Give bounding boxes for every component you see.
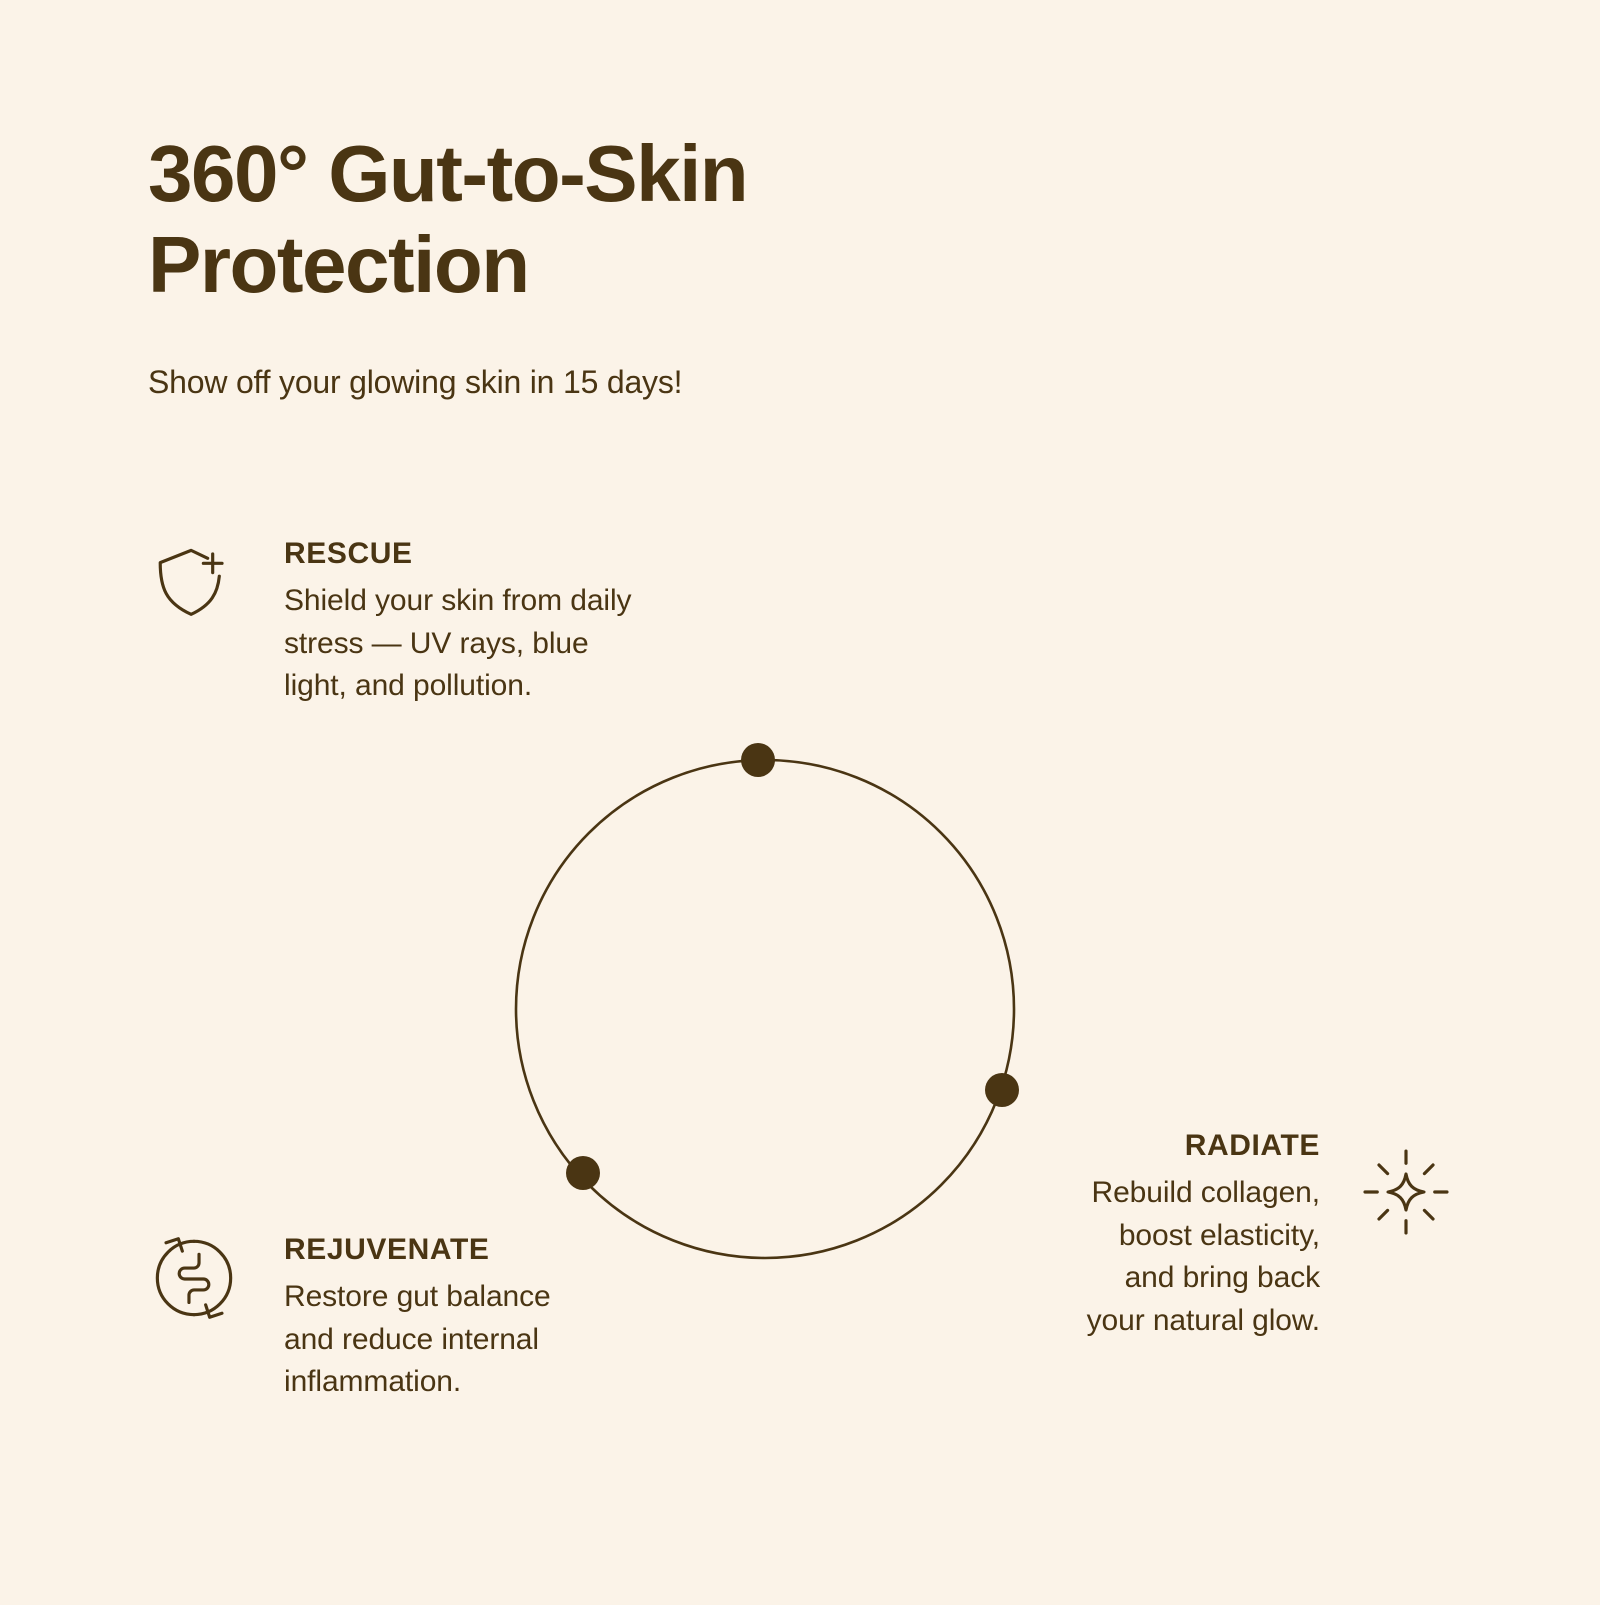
ring-node-rejuvenate[interactable] bbox=[566, 1156, 600, 1190]
feature-rescue-description: Shield your skin from daily stress — UV … bbox=[284, 572, 631, 708]
feature-radiate: RADIATE Rebuild collagen, boost elastici… bbox=[940, 1128, 1452, 1342]
feature-rescue-body: RESCUE Shield your skin from daily stres… bbox=[240, 536, 631, 708]
sparkle-rays-icon bbox=[1360, 1146, 1452, 1238]
feature-radiate-body: RADIATE Rebuild collagen, boost elastici… bbox=[1087, 1128, 1360, 1342]
feature-rejuvenate-body: REJUVENATE Restore gut balance and reduc… bbox=[240, 1232, 551, 1404]
feature-rescue-title: RESCUE bbox=[284, 536, 631, 572]
gut-cycle-icon bbox=[148, 1232, 240, 1324]
feature-rejuvenate-description: Restore gut balance and reduce internal … bbox=[284, 1268, 551, 1404]
feature-rejuvenate-title: REJUVENATE bbox=[284, 1232, 551, 1268]
feature-radiate-description: Rebuild collagen, boost elasticity, and … bbox=[1087, 1164, 1320, 1342]
feature-rejuvenate: REJUVENATE Restore gut balance and reduc… bbox=[148, 1232, 708, 1404]
infographic-canvas: 360° Gut-to-Skin Protection Show off you… bbox=[0, 0, 1600, 1600]
header: 360° Gut-to-Skin Protection Show off you… bbox=[148, 128, 1048, 404]
shield-plus-icon bbox=[148, 536, 240, 628]
ring-node-radiate[interactable] bbox=[985, 1073, 1019, 1107]
ring-node-rescue[interactable] bbox=[741, 743, 775, 777]
feature-radiate-title: RADIATE bbox=[1087, 1128, 1320, 1164]
page-subtitle: Show off your glowing skin in 15 days! bbox=[148, 310, 1048, 404]
page-title: 360° Gut-to-Skin Protection bbox=[148, 128, 1048, 310]
feature-rescue: RESCUE Shield your skin from daily stres… bbox=[148, 536, 788, 708]
